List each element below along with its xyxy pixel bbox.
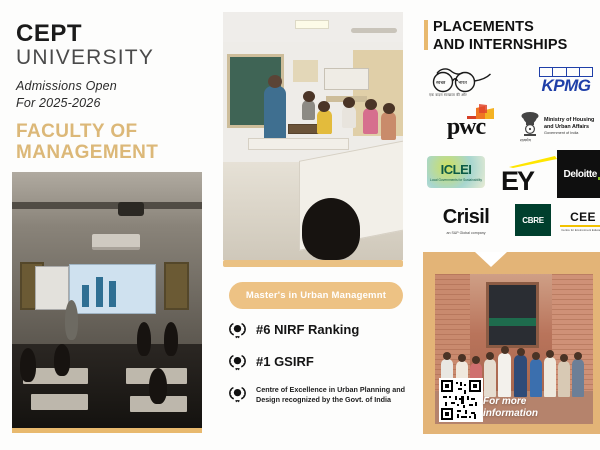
program-pill: Master's in Urban Managemnt [229, 282, 403, 309]
group-person-4 [484, 359, 496, 397]
ranking-row-centre-of-excellence: Centre of Excellence in Urban Planning a… [227, 384, 413, 405]
photo-slide-bar-2 [96, 277, 103, 307]
kpmg-logo: KPMG [531, 64, 600, 98]
svg-text:स्वच्छ: स्वच्छ [436, 80, 445, 85]
faculty-line-1: FACULTY OF [16, 121, 196, 142]
photo-student-4 [164, 322, 178, 356]
mid-photo-student-3 [363, 108, 378, 134]
laurel-wreath-icon [227, 319, 248, 340]
laurel-wreath-icon [227, 383, 248, 404]
photo-slide-bar-3 [109, 281, 116, 307]
group-person-9 [558, 361, 570, 397]
middle-column: Master's in Urban Managemnt #6 NIRF Rank… [213, 0, 411, 450]
mid-photo-student-4 [381, 112, 396, 140]
qr-eye-top-right [469, 380, 481, 392]
deloitte-logo: Deloitte [557, 150, 600, 198]
admissions-text: Admissions Open For 2025-2026 [16, 78, 196, 111]
pwc-blocks-icon [465, 104, 501, 124]
cee-wordmark: CEE [570, 210, 596, 224]
more-information-line-2: information [483, 408, 538, 420]
photo-projection-screen [69, 264, 156, 314]
swachh-bharat-logo: स्वच्छ भारत एक कदम स्वच्छता की ओर [425, 62, 509, 98]
ranking-row-gsirf: #1 GSIRF [227, 352, 413, 373]
kpmg-wordmark: KPMG [542, 76, 591, 96]
more-information-line-1: For more [483, 396, 538, 408]
photo-student-3 [137, 322, 151, 356]
qr-eye-bottom-left [441, 408, 453, 420]
crisil-wordmark: Crisil [443, 206, 489, 229]
cbre-logo: CBRE [515, 204, 551, 236]
ey-logo: EY [497, 154, 555, 198]
iclei-wordmark: ICLEI [441, 162, 472, 177]
photo-ceiling [12, 172, 202, 224]
mid-photo-ceiling-fan [351, 28, 397, 33]
photo-window-right [164, 262, 189, 310]
photo-beam [12, 202, 202, 209]
ministry-text-block: Ministry of Housing and Urban Affairs Go… [544, 117, 600, 136]
swachh-bharat-caption: एक कदम स्वच्छता की ओर [429, 93, 467, 98]
ranking-row-nirf: #6 NIRF Ranking [227, 320, 413, 341]
placements-heading-line-1: PLACEMENTS [433, 18, 567, 36]
brand-name-cept: CEPT [16, 22, 196, 46]
mid-photo-instructor [264, 86, 286, 142]
ministry-sublabel: Government of India [544, 131, 600, 135]
cee-sublabel: Centre for Environment Education [561, 228, 600, 232]
mid-photo-student-2 [342, 106, 356, 128]
left-column: CEPT UNIVERSITY Admissions Open For 2025… [0, 0, 205, 450]
svg-text:भारत: भारत [458, 80, 467, 85]
mid-photo-foreground-person [302, 198, 360, 260]
photo-projector [118, 202, 144, 216]
left-photo-accent-strip [12, 428, 202, 433]
rankings-list: #6 NIRF Ranking #1 GSIRF [227, 320, 413, 416]
group-photo-doorway [486, 282, 540, 348]
ey-wordmark: EY [501, 166, 533, 197]
mid-photo-table-1 [248, 138, 349, 150]
partner-logos-grid: स्वच्छ भारत एक कदम स्वच्छता की ओर KPMG p… [423, 58, 600, 236]
mid-photo-student-1 [317, 110, 332, 134]
photo-whiteboard [35, 266, 69, 310]
more-information-text: For more information [483, 396, 538, 420]
svg-text:सत्यमेव: सत्यमेव [520, 138, 532, 143]
qr-code[interactable] [439, 378, 483, 422]
cee-underline [560, 225, 600, 227]
photo-desk-2 [31, 394, 88, 410]
middle-photo-accent-strip [223, 260, 403, 267]
photo-slide-bar-1 [82, 285, 89, 307]
mid-photo-wall-panel [293, 60, 318, 82]
left-classroom-photo [12, 172, 202, 428]
faculty-title: FACULTY OF MANAGEMENT [16, 121, 196, 164]
card-notch-shape [475, 252, 507, 267]
group-person-7 [530, 359, 542, 397]
deloitte-wordmark: Deloitte [564, 169, 597, 180]
admissions-line-1: Admissions Open [16, 78, 196, 95]
iclei-sublabel: Local Governments for Sustainability [430, 178, 482, 182]
ranking-label-centre-of-excellence: Centre of Excellence in Urban Planning a… [256, 384, 413, 405]
ranking-label-gsirf: #1 GSIRF [256, 352, 314, 370]
mid-photo-air-conditioner [324, 68, 369, 90]
iclei-logo: ICLEI Local Governments for Sustainabili… [427, 156, 485, 188]
ministry-housing-urban-affairs-logo: सत्यमेव Ministry of Housing and Urban Af… [519, 104, 600, 148]
crisil-logo: Crisil an S&P Global company [425, 204, 507, 236]
poster-canvas: CEPT UNIVERSITY Admissions Open For 2025… [0, 0, 600, 450]
crisil-sublabel: an S&P Global company [446, 231, 485, 235]
group-photo-sign [489, 318, 536, 326]
faculty-line-2: MANAGEMENT [16, 142, 196, 163]
cee-logo: CEE Centre for Environment Education [559, 208, 600, 234]
placements-heading-line-2: AND INTERNSHIPS [433, 36, 567, 54]
more-information-card: For more information [423, 252, 600, 434]
right-column: PLACEMENTS AND INTERNSHIPS स्वच्छ भारत [417, 0, 600, 450]
photo-air-conditioner [92, 234, 140, 250]
photo-student-5 [149, 368, 167, 404]
qr-code-matrix [441, 380, 481, 420]
cbre-wordmark: CBRE [522, 216, 543, 225]
group-person-6 [514, 355, 527, 397]
group-person-10 [572, 359, 584, 397]
ranking-label-nirf: #6 NIRF Ranking [256, 320, 359, 338]
group-person-5 [498, 353, 511, 397]
photo-floor [12, 344, 202, 428]
placements-heading: PLACEMENTS AND INTERNSHIPS [424, 18, 567, 55]
admissions-line-2: For 2025-2026 [16, 95, 196, 112]
mid-photo-student-5 [302, 100, 315, 120]
middle-classroom-photo [223, 12, 403, 260]
laurel-wreath-icon [227, 351, 248, 372]
group-person-8 [544, 357, 556, 397]
ministry-label: Ministry of Housing and Urban Affairs [544, 117, 600, 131]
swachh-bharat-glasses-icon: स्वच्छ भारत [425, 65, 509, 95]
mid-photo-ceiling-light [295, 20, 329, 29]
india-emblem-icon: सत्यमेव [519, 109, 541, 143]
qr-eye-top-left [441, 380, 453, 392]
brand-block: CEPT UNIVERSITY Admissions Open For 2025… [16, 22, 196, 164]
pwc-logo: pwc [425, 106, 507, 148]
photo-student-1 [20, 348, 36, 382]
photo-presenter [65, 300, 78, 340]
photo-student-2 [54, 344, 70, 376]
brand-name-university: UNIVERSITY [16, 47, 196, 69]
